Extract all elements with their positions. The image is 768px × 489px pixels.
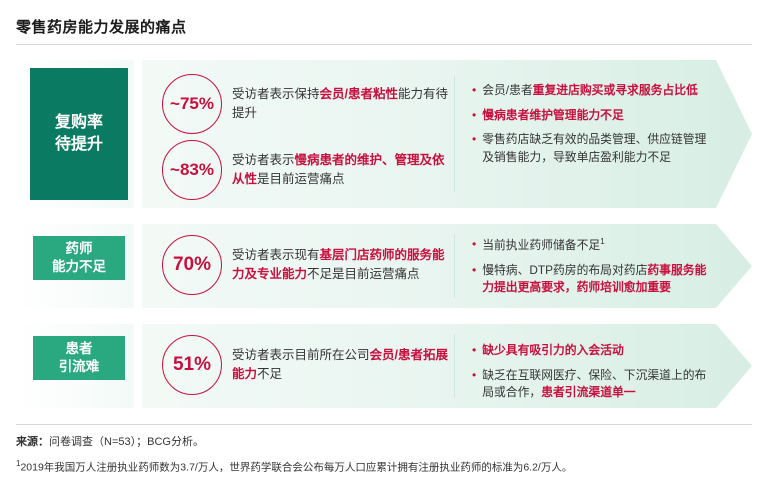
bullet-text: 缺乏在互联网医疗、保险、下沉渠道上的布局或合作，患者引流渠道单一 <box>482 367 710 402</box>
bullet-text: 会员/患者重复进店购买或寻求服务占比低 <box>482 82 698 100</box>
bullet-item: •会员/患者重复进店购买或寻求服务占比低 <box>472 82 710 100</box>
bullet-list-3: •缺少具有吸引力的入会活动•缺乏在互联网医疗、保险、下沉渠道上的布局或合作，患者… <box>472 342 710 409</box>
stat-circle-1-2: ~83% <box>162 140 222 200</box>
band-divider-1 <box>454 76 455 192</box>
bullet-list-1: •会员/患者重复进店购买或寻求服务占比低•慢病患者维护管理能力不足•零售药店缺乏… <box>472 82 710 174</box>
bullet-dot-icon: • <box>472 342 476 360</box>
stat-row-1-1: ~75% 受访者表示保持会员/患者粘性能力有待提升 <box>162 74 452 134</box>
bullet-dot-icon: • <box>472 82 476 100</box>
stat-circle-3-1: 51% <box>162 335 222 395</box>
band-divider-3 <box>454 334 455 398</box>
bullet-text: 缺少具有吸引力的入会活动 <box>482 342 624 360</box>
bullet-text: 慢病患者维护管理能力不足 <box>482 107 624 125</box>
stat-row-2-1: 70% 受访者表示现有基层门店药师的服务能力及专业能力不足是目前运营痛点 <box>162 235 454 295</box>
band-repurchase: 复购率待提升 ~75% 受访者表示保持会员/患者粘性能力有待提升 ~83% 受访… <box>16 60 752 208</box>
band-patient-traffic: 患者引流难 51% 受访者表示目前所在公司会员/患者拓展能力不足 •缺少具有吸引… <box>16 324 752 408</box>
category-label-2: 药师能力不足 <box>33 236 125 280</box>
bullet-dot-icon: • <box>472 236 476 255</box>
stat-text-1-2: 受访者表示慢病患者的维护、管理及依从性是目前运营痛点 <box>232 151 452 189</box>
stat-circle-1-1: ~75% <box>162 74 222 134</box>
bullet-item: •慢病患者维护管理能力不足 <box>472 107 710 125</box>
stat-row-1-2: ~83% 受访者表示慢病患者的维护、管理及依从性是目前运营痛点 <box>162 140 452 200</box>
bullet-text: 当前执业药师储备不足1 <box>482 236 604 255</box>
bullet-dot-icon: • <box>472 262 476 297</box>
band-divider-2 <box>454 234 455 298</box>
stat-circle-2-1: 70% <box>162 235 222 295</box>
category-text-1: 复购率待提升 <box>55 112 103 155</box>
bullet-item: •当前执业药师储备不足1 <box>472 236 710 255</box>
source-label: 来源： <box>16 436 49 448</box>
category-label-1: 复购率待提升 <box>30 68 128 200</box>
category-text-2: 药师能力不足 <box>52 240 106 276</box>
bullet-item: •缺少具有吸引力的入会活动 <box>472 342 710 360</box>
category-label-3: 患者引流难 <box>33 336 125 380</box>
bullet-text: 零售药店缺乏有效的品类管理、供应链管理及销售能力，导致单店盈利能力不足 <box>482 131 710 166</box>
stat-text-1-1: 受访者表示保持会员/患者粘性能力有待提升 <box>232 85 452 123</box>
bullet-dot-icon: • <box>472 131 476 166</box>
bullet-item: •零售药店缺乏有效的品类管理、供应链管理及销售能力，导致单店盈利能力不足 <box>472 131 710 166</box>
bullet-text: 慢特病、DTP药房的布局对药店药事服务能力提出更高要求，药师培训愈加重要 <box>482 262 710 297</box>
bullet-item: •缺乏在互联网医疗、保险、下沉渠道上的布局或合作，患者引流渠道单一 <box>472 367 710 402</box>
footnote-line: 12019年我国万人注册执业药师数为3.7/万人，世界药学联合会公布每万人口应累… <box>16 459 572 475</box>
bullet-dot-icon: • <box>472 367 476 402</box>
footnote-text: 2019年我国万人注册执业药师数为3.7/万人，世界药学联合会公布每万人口应累计… <box>20 462 572 474</box>
title-divider <box>16 44 752 45</box>
source-text: 问卷调查（N=53）；BCG分析。 <box>49 436 204 448</box>
page-title: 零售药房能力发展的痛点 <box>16 16 187 37</box>
stat-text-2-1: 受访者表示现有基层门店药师的服务能力及专业能力不足是目前运营痛点 <box>232 246 454 284</box>
band-pharmacist: 药师能力不足 70% 受访者表示现有基层门店药师的服务能力及专业能力不足是目前运… <box>16 224 752 308</box>
source-line: 来源：问卷调查（N=53）；BCG分析。 <box>16 433 204 449</box>
bullet-item: •慢特病、DTP药房的布局对药店药事服务能力提出更高要求，药师培训愈加重要 <box>472 262 710 297</box>
bullet-list-2: •当前执业药师储备不足1•慢特病、DTP药房的布局对药店药事服务能力提出更高要求… <box>472 236 710 304</box>
stat-text-3-1: 受访者表示目前所在公司会员/患者拓展能力不足 <box>232 346 454 384</box>
bullet-dot-icon: • <box>472 107 476 125</box>
category-text-3: 患者引流难 <box>59 340 100 376</box>
footer-divider <box>16 424 752 425</box>
stat-row-3-1: 51% 受访者表示目前所在公司会员/患者拓展能力不足 <box>162 335 454 395</box>
